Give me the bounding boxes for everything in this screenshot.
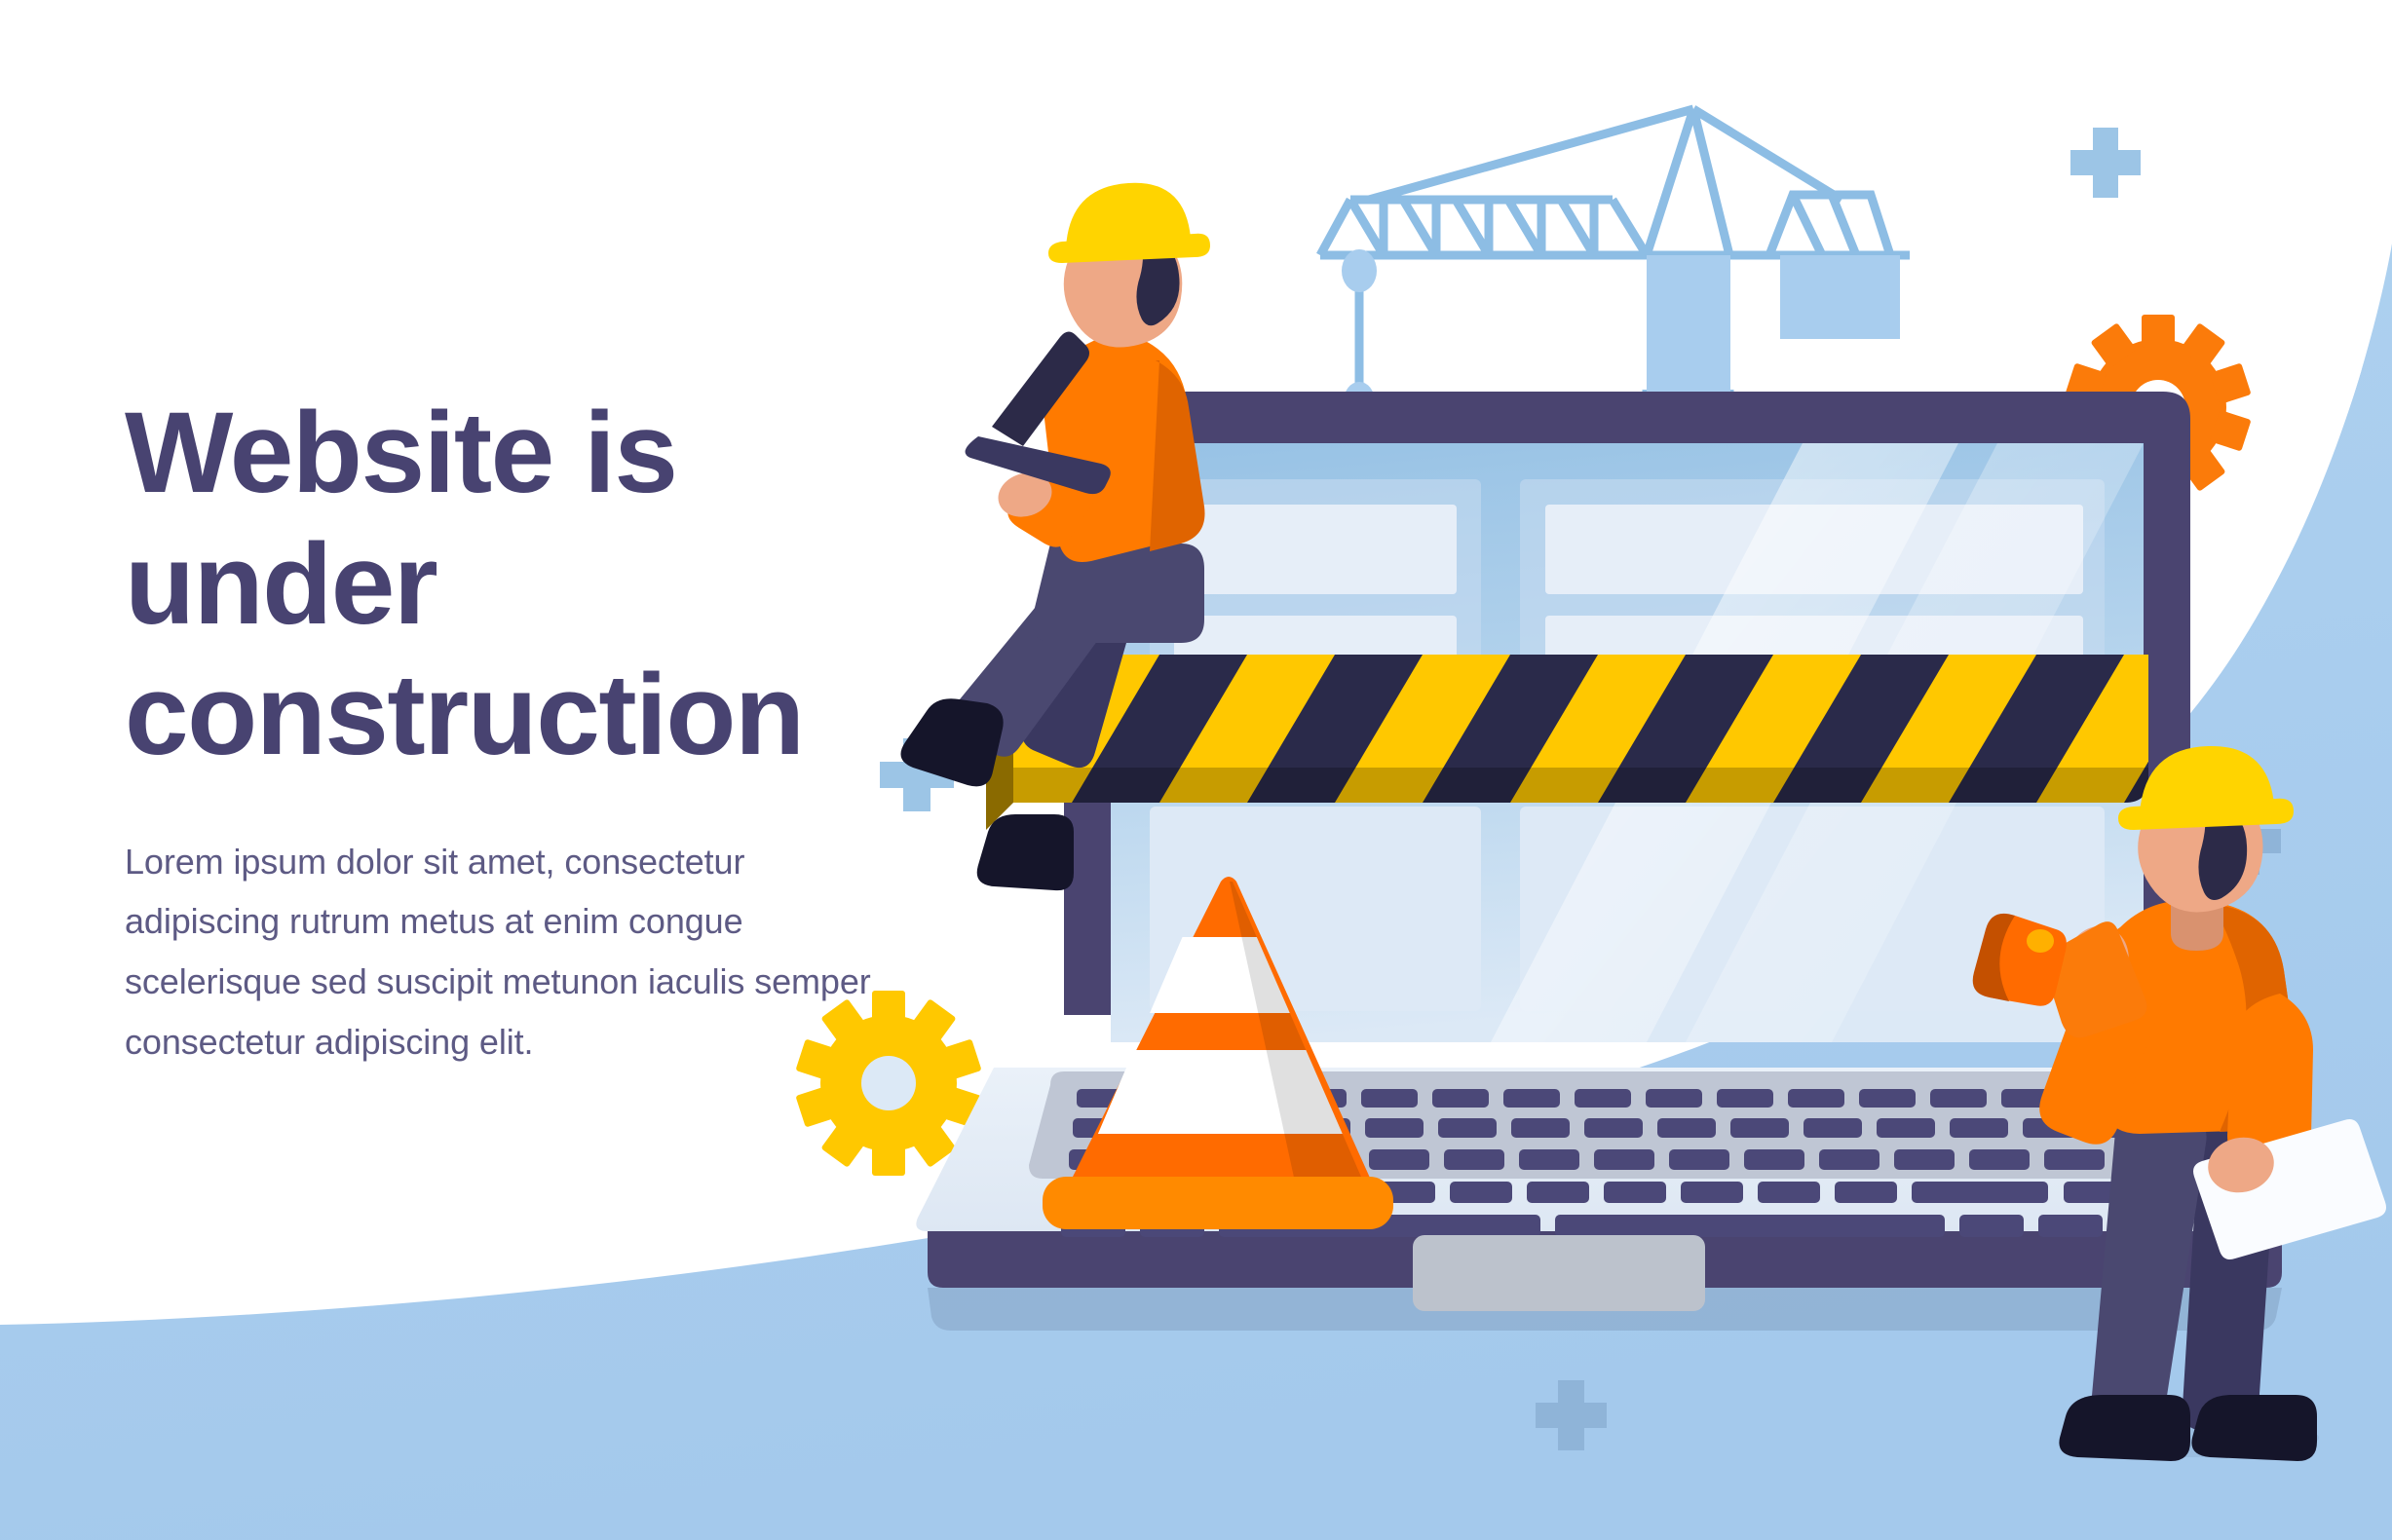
crane-counterweight (1780, 255, 1900, 339)
copy-block: Website is under construction Lorem ipsu… (125, 388, 885, 1072)
crane-pulley (1342, 249, 1377, 292)
crane-cab (1647, 255, 1730, 392)
illustration-page: Website is under construction Lorem ipsu… (0, 0, 2392, 1540)
seated-worker-thigh (1032, 544, 1204, 643)
page-title: Website is under construction (125, 388, 885, 781)
barrier-bottom-shade (984, 768, 2173, 807)
standing-worker-shoe-front (2059, 1395, 2190, 1461)
plus-icon-top-right (2070, 128, 2141, 198)
cone-base (1043, 1177, 1393, 1229)
seated-worker-shoe-back (977, 814, 1074, 890)
screen-block-left-1 (1174, 505, 1457, 594)
standing-worker-shoe-back (2191, 1395, 2317, 1461)
megaphone-button (2027, 929, 2054, 953)
plus-icon-bottom (1536, 1380, 1607, 1450)
laptop-trackpad (1413, 1235, 1705, 1311)
page-description: Lorem ipsum dolor sit amet, consectetur … (125, 832, 885, 1073)
